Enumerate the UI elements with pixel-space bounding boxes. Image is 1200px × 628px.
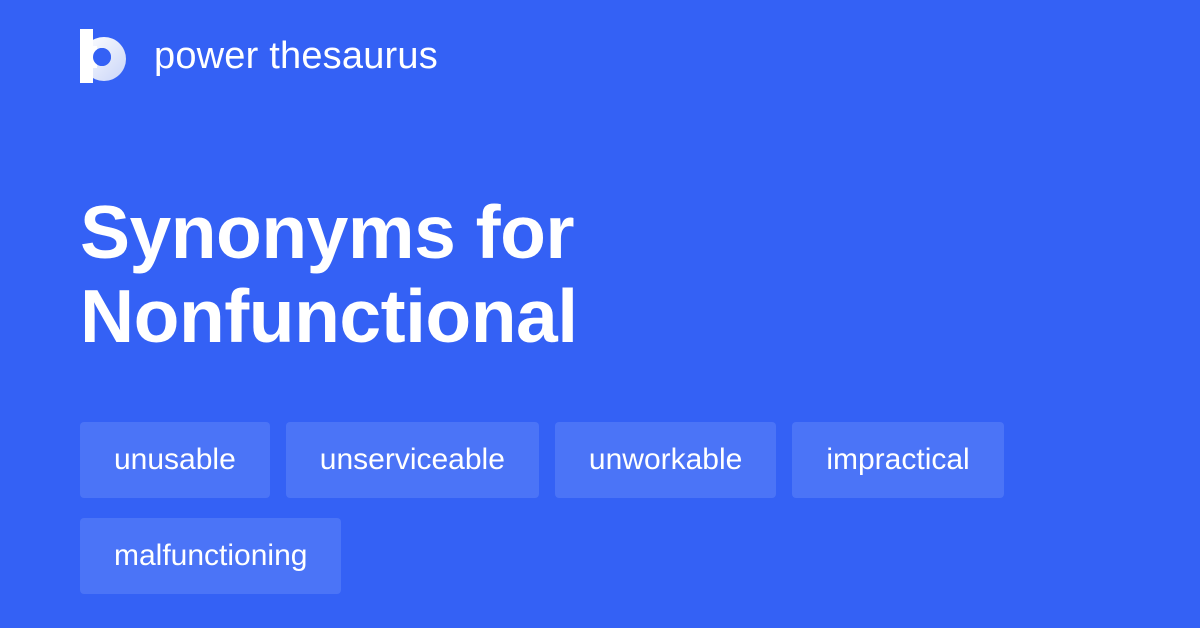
page-title-line-2: Nonfunctional [80, 274, 1120, 358]
brand-header[interactable]: power thesaurus [80, 26, 438, 86]
synonym-chip[interactable]: unserviceable [286, 422, 539, 498]
power-thesaurus-b-logo-icon [80, 29, 126, 83]
page-title: Synonyms for Nonfunctional [80, 190, 1120, 358]
page-title-line-1: Synonyms for [80, 190, 1120, 274]
synonym-chip[interactable]: impractical [792, 422, 1003, 498]
synonym-chip-list: unusable unserviceable unworkable imprac… [80, 422, 1140, 594]
synonym-chip[interactable]: unusable [80, 422, 270, 498]
synonym-chip[interactable]: unworkable [555, 422, 776, 498]
social-card: power thesaurus Synonyms for Nonfunction… [0, 0, 1200, 628]
brand-name: power thesaurus [154, 37, 438, 75]
synonym-chip[interactable]: malfunctioning [80, 518, 341, 594]
